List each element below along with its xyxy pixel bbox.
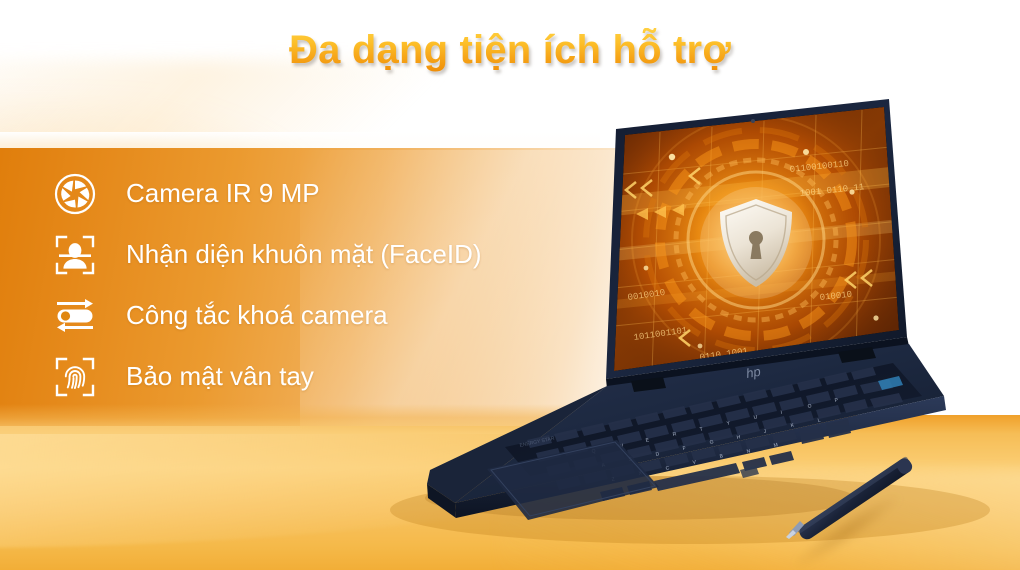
feature-label: Bảo mật vân tay <box>126 361 314 392</box>
feature-label: Công tắc khoá camera <box>126 300 388 331</box>
feature-item-camera-ir: Camera IR 9 MP <box>52 163 612 224</box>
feature-item-fingerprint: Bảo mật vân tay <box>52 346 612 407</box>
feature-list: Camera IR 9 MP Nhậ <box>52 163 612 407</box>
feature-panel-bottom-fade <box>0 404 600 434</box>
feature-item-faceid: Nhận diện khuôn mặt (FaceID) <box>52 224 612 285</box>
fingerprint-scan-icon <box>52 354 98 400</box>
feature-label: Camera IR 9 MP <box>126 178 320 209</box>
desk-highlight-secondary <box>500 470 1020 570</box>
face-scan-icon <box>52 232 98 278</box>
promo-banner: 01100100110 1001 0110 11 0010010 1011001… <box>0 0 1020 570</box>
page-title: Đa dạng tiện ích hỗ trợ <box>0 28 1020 73</box>
camera-lock-switch-icon <box>52 293 98 339</box>
feature-label: Nhận diện khuôn mặt (FaceID) <box>126 239 482 270</box>
camera-aperture-icon <box>52 171 98 217</box>
feature-item-camera-switch: Công tắc khoá camera <box>52 285 612 346</box>
